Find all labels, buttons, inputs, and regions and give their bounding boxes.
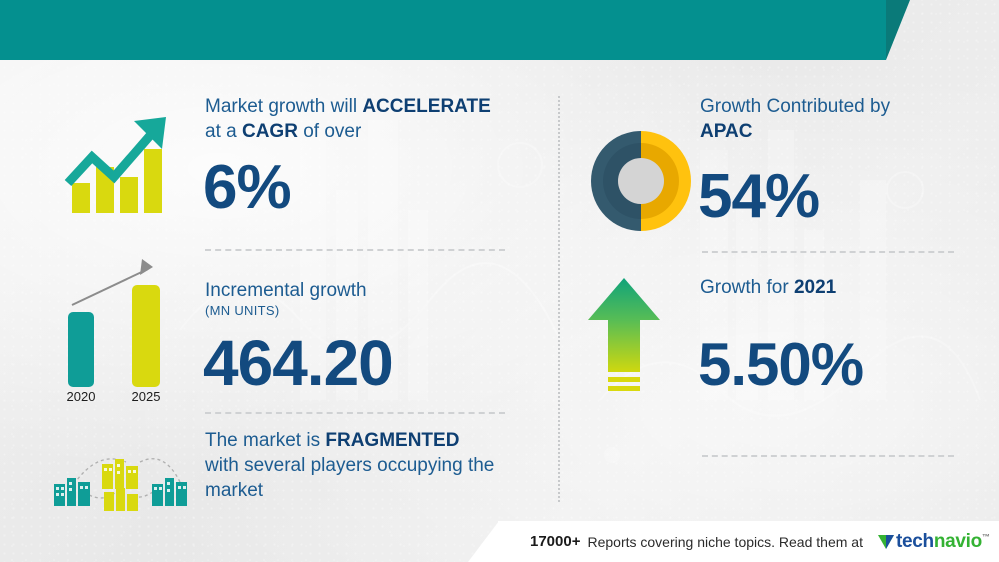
growth-2021-value: 5.50%	[698, 330, 863, 399]
left-separator-1	[205, 249, 505, 251]
technavio-arrow-mark-icon	[877, 532, 896, 551]
column-divider	[558, 96, 560, 502]
two-bars-comparison-icon: 2020 2025	[52, 255, 182, 405]
cagr-line2-plain-b: of over	[298, 121, 361, 142]
donut-chart-icon	[588, 128, 694, 234]
bar-label-2020: 2020	[67, 389, 96, 404]
footer-tagline: Reports covering niche topics. Read them…	[587, 534, 862, 550]
apac-line1: Growth Contributed by	[700, 94, 970, 119]
incremental-growth-value: 464.20	[203, 326, 393, 400]
up-arrow-gradient-icon	[586, 276, 662, 398]
apac-statement: Growth Contributed by APAC	[700, 94, 970, 144]
cagr-line2-plain-a: at a	[205, 121, 242, 142]
footer-report-count: 17000+	[530, 533, 580, 550]
left-separator-2	[205, 412, 505, 414]
incremental-growth-unit: (MN UNITS)	[205, 303, 535, 318]
footer-diagonal-cut	[468, 521, 499, 562]
infographic-canvas: GLOBAL SMARTPHONE MARKET 2021-2025 Marke…	[0, 0, 999, 562]
logo-text-tech: tech	[896, 531, 934, 552]
fragmentation-line1-plain: The market is	[205, 430, 325, 451]
cagr-line1-bold: ACCELERATE	[362, 96, 490, 117]
apac-line2-bold: APAC	[700, 121, 752, 142]
logo-text-navio: navio	[934, 531, 982, 552]
growth-2021-statement: Growth for 2021	[700, 275, 970, 300]
right-separator-1	[702, 251, 954, 253]
city-clusters-icon	[40, 448, 190, 514]
fragmentation-line1-bold: FRAGMENTED	[325, 430, 459, 451]
fragmentation-line3: market	[205, 480, 263, 501]
cagr-value: 6%	[203, 152, 291, 223]
incremental-growth-title: Incremental growth	[205, 278, 535, 303]
header-banner	[0, 0, 886, 60]
cagr-line1-plain: Market growth will	[205, 96, 362, 117]
logo-trademark: ™	[982, 532, 990, 541]
cagr-line2-bold: CAGR	[242, 121, 298, 142]
bar-chart-growth-icon	[62, 105, 182, 215]
footer-bar: 17000+ Reports covering niche topics. Re…	[498, 521, 999, 562]
right-separator-2	[702, 455, 954, 457]
header-fold-corner	[886, 0, 910, 60]
apac-value: 54%	[698, 161, 819, 232]
cagr-statement: Market growth will ACCELERATE at a CAGR …	[205, 94, 535, 144]
fragmentation-statement: The market is FRAGMENTED with several pl…	[205, 428, 545, 503]
growth-2021-line1-bold: 2021	[794, 277, 836, 298]
incremental-growth-block: Incremental growth (MN UNITS)	[205, 278, 535, 318]
technavio-logo[interactable]: technavio™	[877, 531, 990, 553]
fragmentation-line2: with several players occupying the	[205, 455, 494, 476]
growth-2021-line1-plain: Growth for	[700, 277, 794, 298]
bar-label-2025: 2025	[132, 389, 161, 404]
